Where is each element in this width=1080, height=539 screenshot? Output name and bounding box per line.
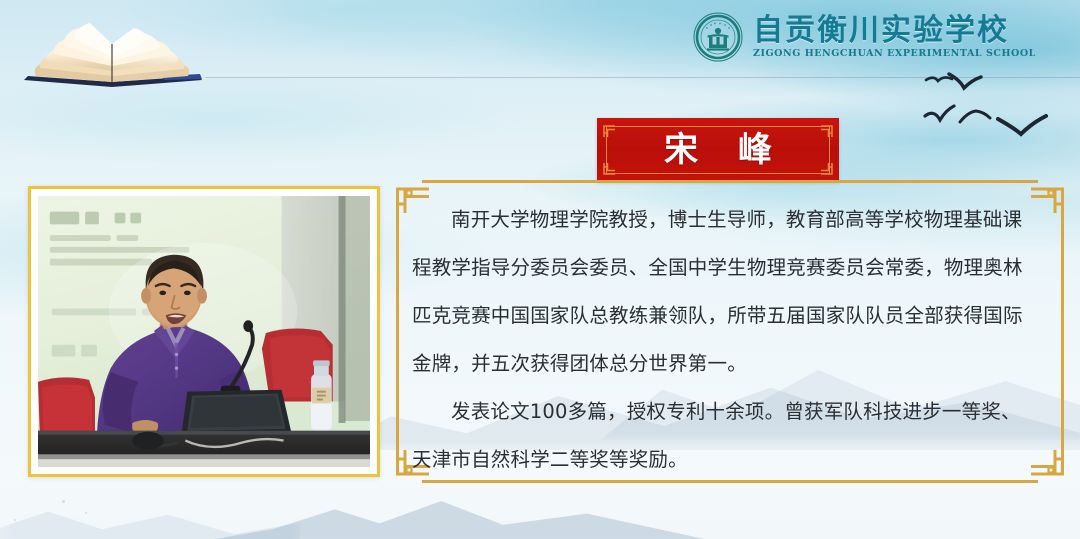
speaker-nameplate: 宋 峰 xyxy=(597,118,839,182)
background-speck xyxy=(85,512,87,514)
background-speck xyxy=(14,519,16,521)
speaker-bio: 南开大学物理学院教授，博士生导师，教育部高等学校物理基础课程教学指导分委员会委员… xyxy=(412,196,1036,484)
open-book-icon xyxy=(12,14,214,90)
flying-birds-icon xyxy=(880,68,1080,140)
school-logo: 自贡衡川实验学校 ZIGONG HENGCHUAN EXPERIMENTAL S… xyxy=(692,9,1036,65)
background-speck xyxy=(62,500,65,503)
speaker-name: 宋 峰 xyxy=(597,118,839,182)
slide-canvas: 自贡衡川实验学校 ZIGONG HENGCHUAN EXPERIMENTAL S… xyxy=(0,0,1080,539)
school-name-chinese: 自贡衡川实验学校 xyxy=(753,15,1036,47)
school-logo-text: 自贡衡川实验学校 ZIGONG HENGCHUAN EXPERIMENTAL S… xyxy=(753,15,1036,60)
speaker-photo-frame xyxy=(28,186,380,477)
school-name-english: ZIGONG HENGCHUAN EXPERIMENTAL SCHOOL xyxy=(753,48,1036,59)
bio-paragraph-1: 南开大学物理学院教授，博士生导师，教育部高等学校物理基础课程教学指导分委员会委员… xyxy=(412,196,1036,388)
bio-paragraph-2: 发表论文100多篇，授权专利十余项。曾获军队科技进步一等奖、天津市自然科学二等奖… xyxy=(412,388,1036,484)
school-emblem-icon xyxy=(692,11,744,63)
speaker-portrait-at-lectern xyxy=(38,196,370,467)
